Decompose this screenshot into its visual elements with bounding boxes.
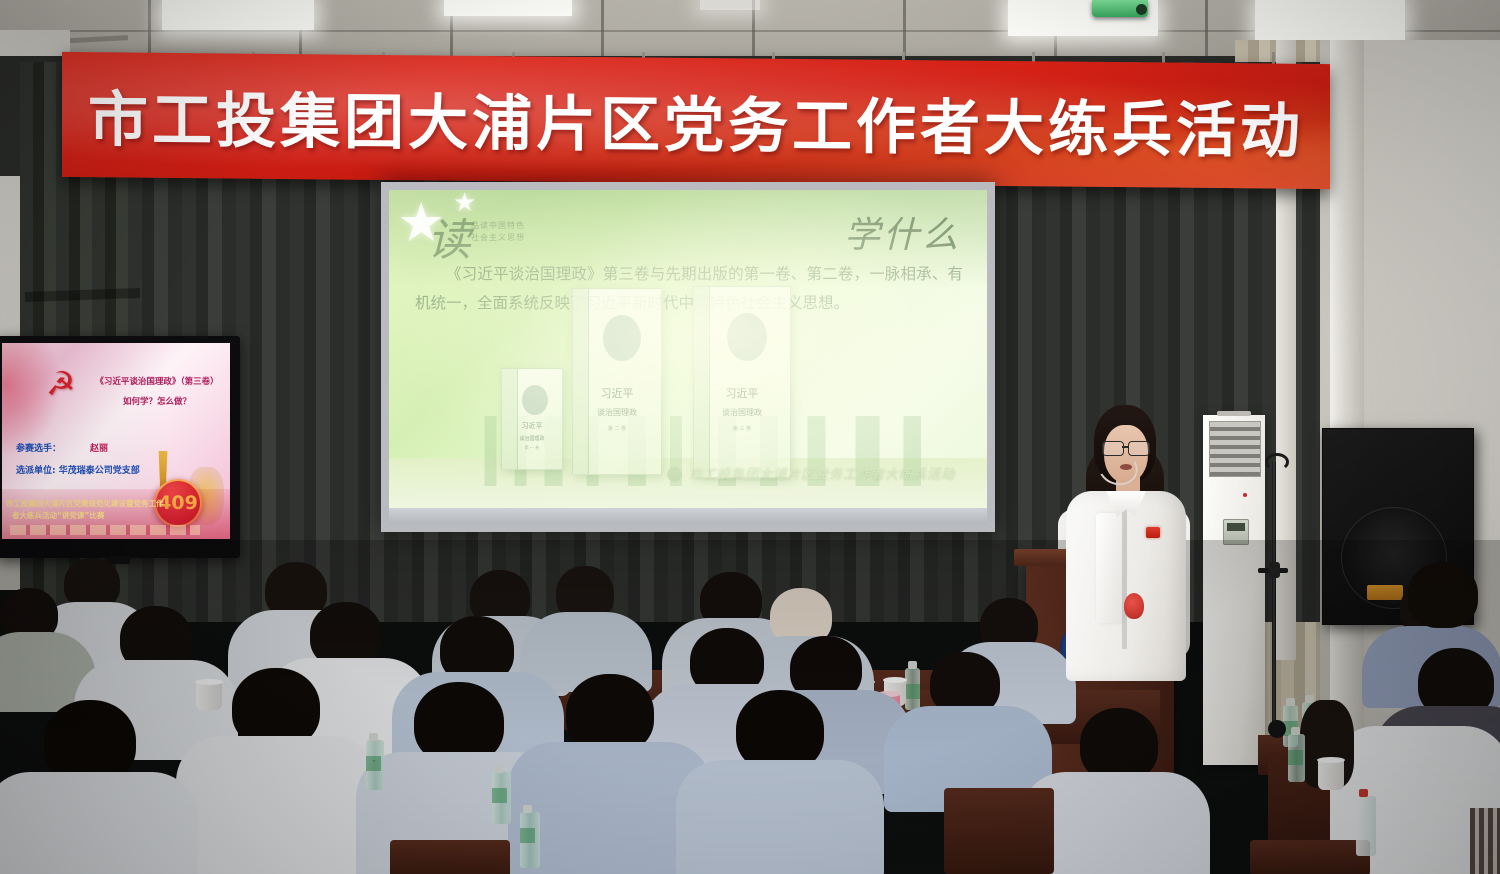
- ac-power-led-icon: [1243, 493, 1247, 497]
- chair: [1250, 840, 1370, 874]
- contestant-label: 参赛选手：: [16, 441, 61, 454]
- water-bottle: [492, 772, 511, 824]
- event-banner: 市工投集团大浦片区党务工作者大练兵活动: [62, 52, 1330, 189]
- banner-title: 市工投集团大浦片区党务工作者大练兵活动: [62, 52, 1330, 189]
- water-bottle: [520, 812, 540, 868]
- unit-line: 选派单位: 华茂瑞泰公司党支部: [16, 463, 140, 476]
- water-bottle: [366, 740, 384, 790]
- mic-clip-icon: [1265, 453, 1289, 471]
- ac-display-screen: [1227, 523, 1245, 531]
- bottle-cap: [1359, 789, 1368, 797]
- bottle-cap: [369, 733, 378, 741]
- monitor-footer-line1: 市工投集团大浦片区党建规范化建设暨党务工作: [6, 498, 164, 509]
- glasses-lens-left: [1102, 441, 1124, 456]
- water-bottle: [905, 668, 920, 710]
- paper-cup: [1318, 760, 1344, 790]
- projector-bloom: [389, 190, 987, 508]
- presenter-mouth: [1120, 464, 1132, 470]
- audience-head: [1080, 708, 1158, 782]
- conference-photo: 市工投集团大浦片区党务工作者大练兵活动 ★ ★ 读 品读中国特色社会主义思想 学…: [0, 0, 1500, 874]
- bottle-cap: [523, 805, 532, 813]
- audience-shoulders: [0, 772, 198, 874]
- glasses-lens-right: [1128, 441, 1150, 456]
- bottle-label: [905, 684, 920, 699]
- side-monitor-slide: ☭ 《习近平谈治国理政》（第三卷） 如何学？怎么做？ 参赛选手： 赵丽 选派单位…: [2, 343, 230, 539]
- bottle-cap: [908, 661, 917, 669]
- ceiling-light-panel: [1255, 0, 1405, 40]
- monitor-title-line1: 《习近平谈治国理政》（第三卷）: [82, 375, 230, 390]
- presenter-shirt-placket: [1122, 509, 1127, 649]
- presenter-shirt-ruffle: [1096, 513, 1124, 623]
- bottle-cap: [1291, 727, 1300, 735]
- monitor-footer-strip: [10, 525, 200, 535]
- audience-striped-sleeve: [1470, 808, 1500, 874]
- projection-screen: ★ ★ 读 品读中国特色社会主义思想 学什么 《习近平谈治国理政》第三卷与先期出…: [381, 182, 995, 532]
- ceiling-light-panel: [162, 0, 314, 30]
- audience-shoulders: [676, 760, 884, 874]
- party-pin-icon: [1146, 527, 1160, 538]
- bottle-cap: [1286, 698, 1295, 706]
- bottle-cap: [495, 765, 504, 773]
- side-monitor: ☭ 《习近平谈治国理政》（第三卷） 如何学？怎么做？ 参赛选手： 赵丽 选派单位…: [0, 336, 240, 558]
- audience-area: [0, 540, 1500, 874]
- audience-head: [1408, 562, 1478, 628]
- ac-grille-icon: [1209, 421, 1261, 477]
- table-microphone: [1268, 720, 1286, 738]
- party-emblem-icon: ☭: [46, 367, 80, 401]
- monitor-title-line2: 如何学？怎么做？: [82, 395, 230, 407]
- monitor-footer-line2: 者大练兵活动“讲党课”比赛: [12, 510, 104, 521]
- ceiling-light-panel: [444, 0, 572, 16]
- projection-slide: ★ ★ 读 品读中国特色社会主义思想 学什么 《习近平谈治国理政》第三卷与先期出…: [389, 190, 987, 508]
- chair: [944, 788, 1054, 874]
- screen-bottom-bar: [389, 508, 987, 524]
- paper-cup: [196, 682, 222, 710]
- ac-top-cap: [1217, 411, 1251, 416]
- audience-shoulders: [176, 736, 378, 874]
- presenter-red-accent: [1124, 593, 1144, 619]
- glasses-icon: [1102, 441, 1150, 454]
- contestant-name: 赵丽: [90, 441, 108, 454]
- projector-lens-icon: [1136, 4, 1147, 15]
- ceiling-light-panel: [700, 0, 760, 10]
- water-bottle: [1356, 796, 1376, 856]
- chair: [390, 840, 510, 874]
- water-bottle: [1288, 734, 1305, 782]
